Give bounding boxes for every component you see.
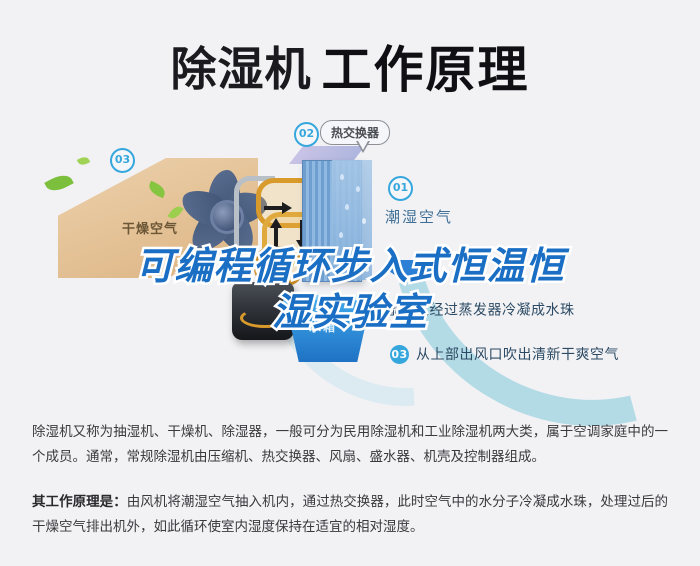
flow-arrow-stem — [264, 206, 282, 210]
principle-lead-label: 其工作原理是： — [32, 494, 127, 510]
caption-03: 03从上部出风口吹出清新干爽空气 — [390, 344, 619, 364]
dry-air-label: 干燥空气 — [122, 218, 178, 237]
paragraph-principle: 其工作原理是：由风机将潮湿空气抽入机内，通过热交换器，此时空气中的水分子冷凝成水… — [32, 490, 668, 540]
callout-pointer-icon — [356, 141, 370, 153]
heat-exchanger-callout: 热交换器 — [320, 120, 390, 145]
title-primary: 除湿机 — [171, 42, 312, 96]
principle-body-text: 由风机将潮湿空气抽入机内，通过热交换器，此时空气中的水分子冷凝成水珠，处理过后的… — [32, 494, 668, 535]
watermark-line-1: 可编程循环步入式恒温恒 — [0, 243, 700, 289]
flow-arrow-right-icon — [282, 202, 292, 214]
caption-03-text: 从上部出风口吹出清新干爽空气 — [416, 347, 619, 363]
badge-01-humid-air: 01 — [388, 176, 413, 201]
body-copy: 除湿机又称为抽湿机、干燥机、除湿器，一般可分为民用除湿机和工业除湿机两大类，属于… — [32, 420, 668, 548]
watermark-overlay: 可编程循环步入式恒温恒 湿实验室 — [0, 243, 700, 336]
watermark-line-2: 湿实验室 — [0, 289, 700, 335]
title-secondary: 工作原理 — [322, 41, 530, 99]
caption-03-badge: 03 — [390, 345, 409, 364]
leaf-icon — [77, 155, 90, 167]
leaf-icon — [44, 171, 74, 196]
badge-03-dry-air: 03 — [110, 148, 135, 173]
page-title: 除湿机工作原理 — [0, 30, 700, 102]
infographic-page: 除湿机工作原理 干燥空气 — [0, 0, 700, 566]
humid-air-label: 潮湿空气 — [385, 206, 453, 227]
flow-arrow-up-icon — [270, 218, 282, 228]
paragraph-definition: 除湿机又称为抽湿机、干燥机、除湿器，一般可分为民用除湿机和工业除湿机两大类，属于… — [32, 420, 668, 470]
badge-02-heat-exchanger: 02 — [294, 122, 319, 147]
